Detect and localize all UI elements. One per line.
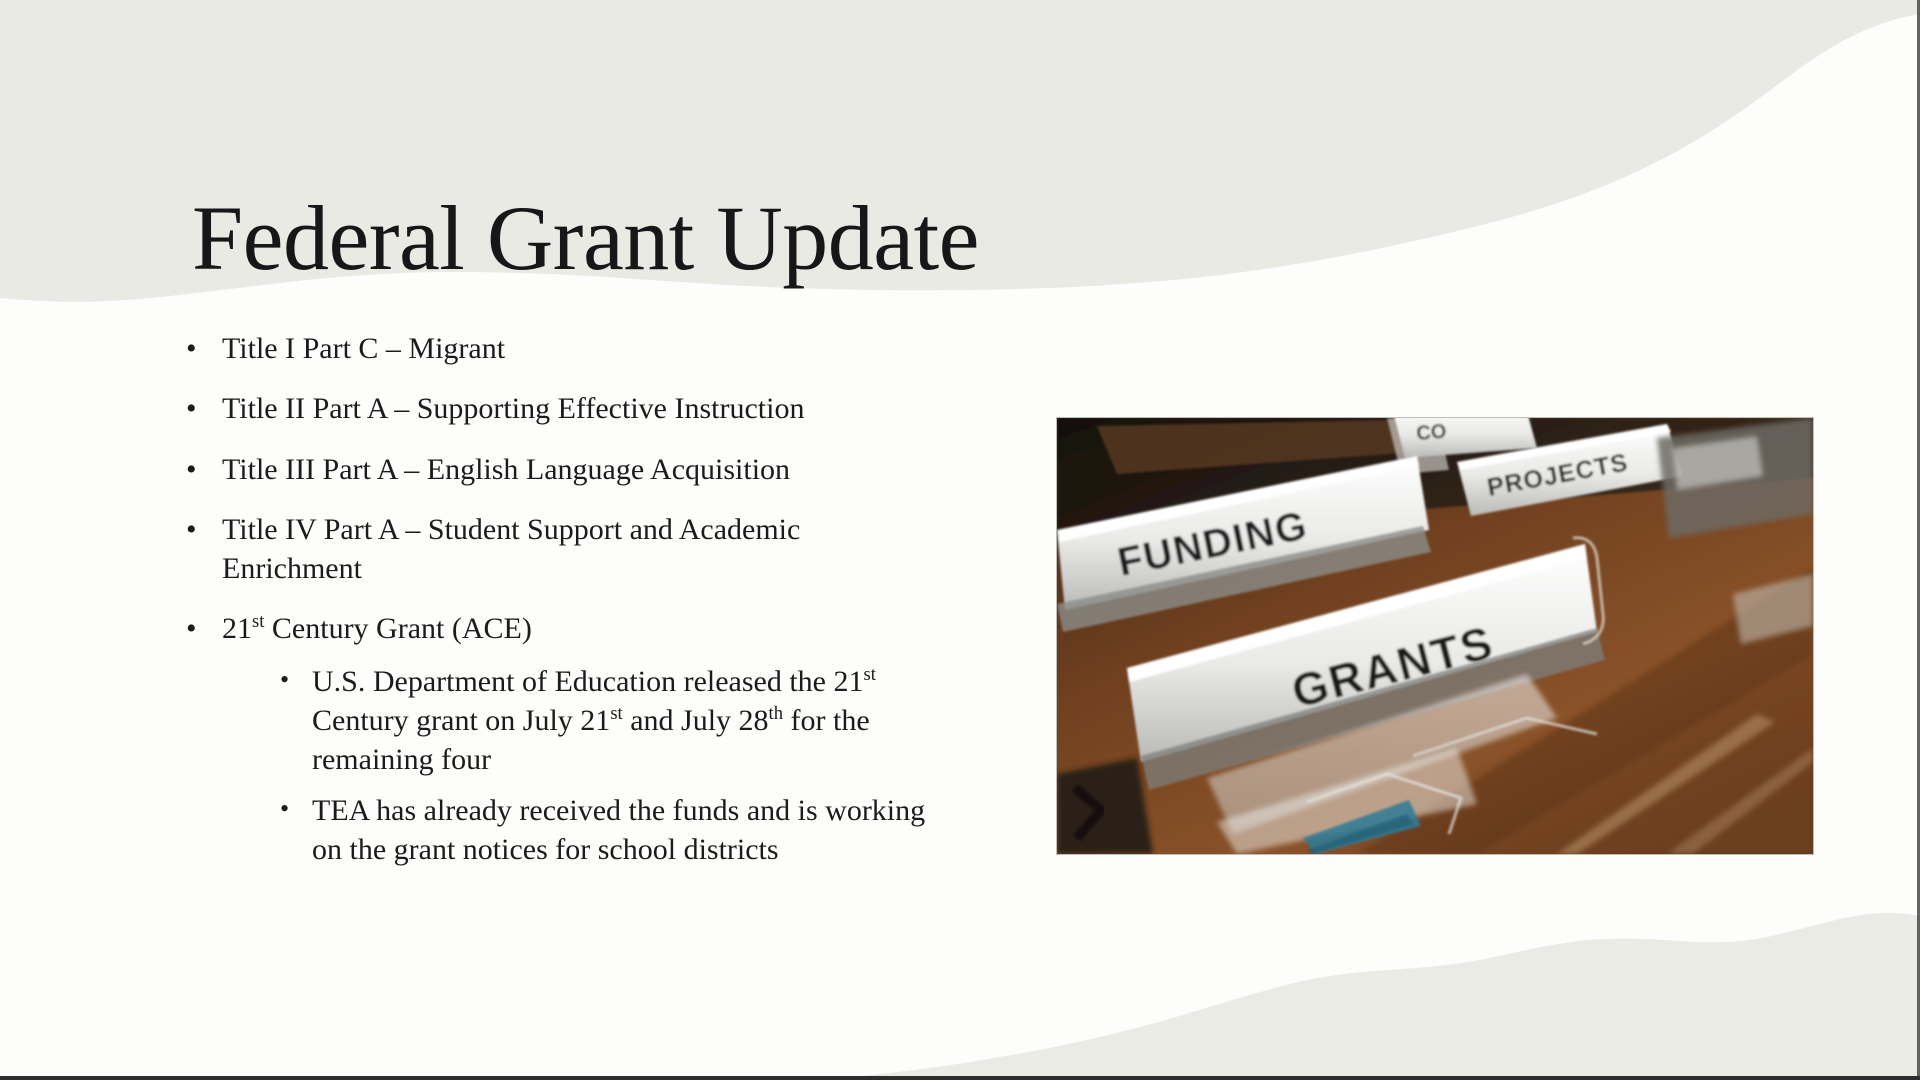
bullet-marker-icon: • <box>186 330 197 368</box>
list-item: • U.S. Department of Education released … <box>278 662 936 779</box>
sub-bullet-part2: Century grant on July 21 <box>312 704 610 737</box>
sub-bullet-text: U.S. Department of Education released th… <box>312 665 876 776</box>
bullet-marker-icon: • <box>186 390 197 428</box>
bullet-text: Title I Part C – Migrant <box>222 330 936 368</box>
bullet-list-level2: • U.S. Department of Education released … <box>222 662 936 869</box>
torn-paper-band-top <box>0 0 1920 340</box>
content-body: • Title I Part C – Migrant • Title II Pa… <box>176 330 936 891</box>
slide-canvas: Federal Grant Update • Title I Part C – … <box>0 0 1920 1080</box>
bullet-marker-icon: • <box>186 451 197 489</box>
sub-bullet-part1: U.S. Department of Education released th… <box>312 665 863 698</box>
folders-photo: CO PROJECTS FUNDING GRANTS <box>1057 418 1813 854</box>
bullet-text-post: Century Grant (ACE) <box>264 612 531 645</box>
bullet-marker-icon: • <box>186 511 197 549</box>
bullet-text: 21st Century Grant (ACE) <box>222 610 936 648</box>
sub-bullet-text: TEA has already received the funds and i… <box>312 794 925 866</box>
bullet-text: Title II Part A – Supporting Effective I… <box>222 390 936 428</box>
folders-photo-illustration: CO PROJECTS FUNDING GRANTS <box>1057 418 1813 854</box>
bullet-text: Title IV Part A – Student Support and Ac… <box>222 511 936 588</box>
sub-bullet-part3: and July 28 <box>623 704 769 737</box>
ordinal-suffix: th <box>769 703 783 724</box>
list-item: • Title IV Part A – Student Support and … <box>176 511 936 588</box>
torn-paper-band-bottom <box>0 880 1920 1080</box>
list-item: • Title III Part A – English Language Ac… <box>176 451 936 489</box>
bullet-text: Title III Part A – English Language Acqu… <box>222 451 936 489</box>
bullet-list-level1: • Title I Part C – Migrant • Title II Pa… <box>176 330 936 869</box>
list-item: • TEA has already received the funds and… <box>278 791 936 869</box>
slide-bottom-edge <box>0 1076 1920 1080</box>
list-item: • Title II Part A – Supporting Effective… <box>176 390 936 428</box>
ordinal-suffix: st <box>252 611 264 632</box>
bullet-marker-icon: • <box>280 791 289 826</box>
folder-label-co: CO <box>1416 420 1448 445</box>
bullet-marker-icon: • <box>280 662 289 697</box>
ordinal-suffix: st <box>863 664 875 685</box>
list-item: • 21st Century Grant (ACE) • U.S. Depart… <box>176 610 936 869</box>
page-title: Federal Grant Update <box>192 190 979 287</box>
bullet-text-pre: 21 <box>222 612 252 645</box>
bullet-marker-icon: • <box>186 610 197 648</box>
ordinal-suffix: st <box>610 703 622 724</box>
list-item: • Title I Part C – Migrant <box>176 330 936 368</box>
